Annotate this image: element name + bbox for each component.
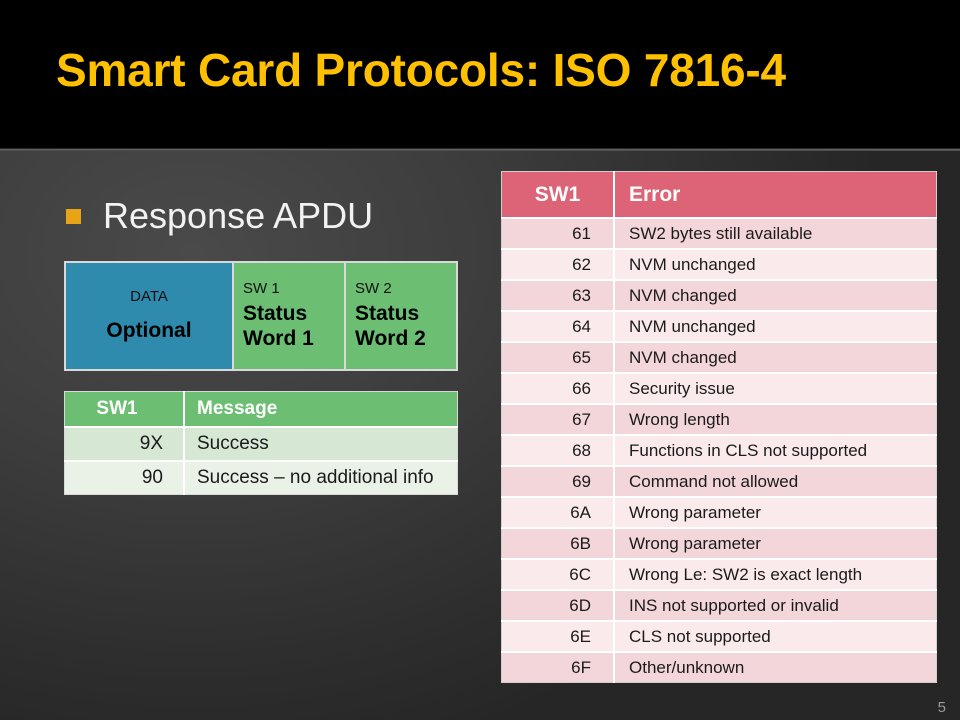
slide-number: 5 xyxy=(938,700,946,716)
square-bullet-icon xyxy=(66,209,81,224)
cell-text: Success – no additional info xyxy=(184,461,458,495)
cell-code: 6E xyxy=(502,621,615,652)
table-row: DATA Optional SW 1 Status Word 1 SW 2 St… xyxy=(65,262,457,370)
cell-text: Wrong parameter xyxy=(614,497,937,528)
table-row: 67Wrong length xyxy=(502,404,937,435)
cell-text: Command not allowed xyxy=(614,466,937,497)
cell-text: Security issue xyxy=(614,373,937,404)
table-row: 65NVM changed xyxy=(502,342,937,373)
cell-code: 64 xyxy=(502,311,615,342)
table-header-row: SW1 Message xyxy=(65,392,458,428)
cell-code: 6C xyxy=(502,559,615,590)
column-header-error: Error xyxy=(614,172,937,219)
apdu-cell-sw1: SW 1 Status Word 1 xyxy=(233,262,345,370)
apdu-cell-sw1-value: Status Word 1 xyxy=(243,301,335,351)
cell-code: 62 xyxy=(502,249,615,280)
column-header-sw1: SW1 xyxy=(502,172,615,219)
cell-code: 67 xyxy=(502,404,615,435)
cell-code: 9X xyxy=(65,427,185,461)
table-row: 6FOther/unknown xyxy=(502,652,937,683)
cell-text: NVM changed xyxy=(614,342,937,373)
bullet-response-apdu: Response APDU xyxy=(66,196,373,236)
cell-text: Functions in CLS not supported xyxy=(614,435,937,466)
table-row: 68Functions in CLS not supported xyxy=(502,435,937,466)
cell-code: 69 xyxy=(502,466,615,497)
apdu-cell-data-value: Optional xyxy=(75,318,223,343)
cell-code: 6F xyxy=(502,652,615,683)
apdu-cell-sw2-label: SW 2 xyxy=(355,280,447,298)
table-row: 6ECLS not supported xyxy=(502,621,937,652)
apdu-cell-sw1-label: SW 1 xyxy=(243,280,335,298)
sw1-error-table: SW1 Error 61SW2 bytes still available62N… xyxy=(501,171,937,683)
apdu-cell-sw2-value: Status Word 2 xyxy=(355,301,447,351)
table-row: 9XSuccess xyxy=(65,427,458,461)
cell-text: INS not supported or invalid xyxy=(614,590,937,621)
apdu-cell-data-label: DATA xyxy=(75,288,223,306)
table-row: 69Command not allowed xyxy=(502,466,937,497)
column-header-message: Message xyxy=(184,392,458,428)
apdu-cell-data: DATA Optional xyxy=(65,262,233,370)
table-header: SW1 Message xyxy=(65,392,458,428)
cell-text: NVM unchanged xyxy=(614,249,937,280)
table-row: 90Success – no additional info xyxy=(65,461,458,495)
table-row: 61SW2 bytes still available xyxy=(502,218,937,249)
cell-code: 6A xyxy=(502,497,615,528)
response-apdu-structure-table: DATA Optional SW 1 Status Word 1 SW 2 St… xyxy=(64,261,458,371)
table-row: 6BWrong parameter xyxy=(502,528,937,559)
sw1-message-table: SW1 Message 9XSuccess90Success – no addi… xyxy=(64,391,458,495)
table-row: 62NVM unchanged xyxy=(502,249,937,280)
table-row: 66Security issue xyxy=(502,373,937,404)
cell-text: NVM changed xyxy=(614,280,937,311)
cell-text: Wrong parameter xyxy=(614,528,937,559)
cell-code: 65 xyxy=(502,342,615,373)
table-row: 6AWrong parameter xyxy=(502,497,937,528)
table-body: 61SW2 bytes still available62NVM unchang… xyxy=(502,218,937,683)
table-row: 6DINS not supported or invalid xyxy=(502,590,937,621)
column-header-sw1: SW1 xyxy=(65,392,185,428)
cell-code: 6D xyxy=(502,590,615,621)
cell-code: 63 xyxy=(502,280,615,311)
table-header-row: SW1 Error xyxy=(502,172,937,219)
cell-code: 6B xyxy=(502,528,615,559)
cell-text: NVM unchanged xyxy=(614,311,937,342)
cell-code: 61 xyxy=(502,218,615,249)
cell-code: 66 xyxy=(502,373,615,404)
cell-code: 90 xyxy=(65,461,185,495)
cell-text: Success xyxy=(184,427,458,461)
apdu-cell-sw2: SW 2 Status Word 2 xyxy=(345,262,457,370)
cell-text: CLS not supported xyxy=(614,621,937,652)
cell-text: SW2 bytes still available xyxy=(614,218,937,249)
cell-code: 68 xyxy=(502,435,615,466)
table-row: 6CWrong Le: SW2 is exact length xyxy=(502,559,937,590)
slide-canvas: Smart Card Protocols: ISO 7816-4 Respons… xyxy=(0,0,960,720)
cell-text: Other/unknown xyxy=(614,652,937,683)
cell-text: Wrong Le: SW2 is exact length xyxy=(614,559,937,590)
table-row: 64NVM unchanged xyxy=(502,311,937,342)
page-title: Smart Card Protocols: ISO 7816-4 xyxy=(56,42,916,98)
title-band: Smart Card Protocols: ISO 7816-4 xyxy=(0,0,960,146)
bullet-label: Response APDU xyxy=(103,196,373,236)
table-body: 9XSuccess90Success – no additional info xyxy=(65,427,458,495)
cell-text: Wrong length xyxy=(614,404,937,435)
table-row: 63NVM changed xyxy=(502,280,937,311)
table-header: SW1 Error xyxy=(502,172,937,219)
